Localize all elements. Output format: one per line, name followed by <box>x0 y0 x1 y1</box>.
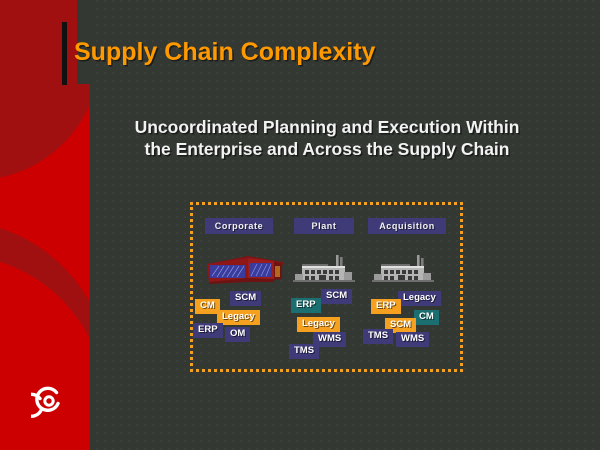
slide-subtitle: Uncoordinated Planning and Execution Wit… <box>96 116 558 160</box>
subtitle-line-1: Uncoordinated Planning and Execution Wit… <box>96 116 558 138</box>
office-building-icon <box>203 253 285 285</box>
spiral-swirl-logo <box>31 383 67 419</box>
supply-chain-diagram: Corporate <box>190 202 463 372</box>
chip-acquisition-erp: ERP <box>371 299 401 314</box>
chip-acquisition-legacy: Legacy <box>398 291 441 306</box>
slide-canvas: Supply Chain Complexity Uncoordinated Pl… <box>0 0 600 450</box>
chip-acquisition-tms: TMS <box>363 329 393 344</box>
title-accent-rule <box>62 22 67 85</box>
factory-building-icon-acquisition <box>372 255 434 285</box>
chip-plant-tms: TMS <box>289 344 319 359</box>
subtitle-line-2: the Enterprise and Across the Supply Cha… <box>96 138 558 160</box>
chip-plant-erp: ERP <box>291 298 321 313</box>
chip-plant-legacy: Legacy <box>297 317 340 332</box>
column-header-plant: Plant <box>294 218 354 234</box>
chip-acquisition-wms: WMS <box>396 332 429 347</box>
factory-building-icon-plant <box>293 255 355 285</box>
chip-corporate-legacy: Legacy <box>217 310 260 325</box>
chip-plant-scm: SCM <box>321 289 352 304</box>
chip-corporate-erp: ERP <box>193 323 223 338</box>
page-title: Supply Chain Complexity <box>74 38 375 67</box>
chip-corporate-scm: SCM <box>230 291 261 306</box>
chip-acquisition-cm: CM <box>414 310 439 325</box>
column-header-acquisition: Acquisition <box>368 218 446 234</box>
column-header-corporate: Corporate <box>205 218 273 234</box>
chip-corporate-om: OM <box>225 327 250 342</box>
